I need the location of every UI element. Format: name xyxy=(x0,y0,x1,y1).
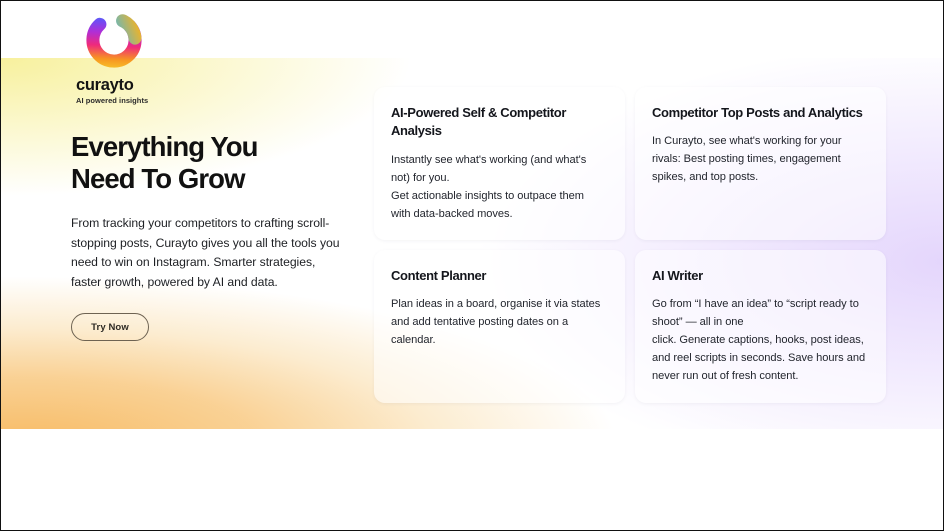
screenshot-frame: curayto AI powered insights Everything Y… xyxy=(0,0,944,531)
card-title: AI Writer xyxy=(652,267,866,285)
card-body: Plan ideas in a board, organise it via s… xyxy=(391,296,605,350)
page-title: Everything You Need To Grow xyxy=(71,131,361,195)
card-body: In Curayto, see what's working for your … xyxy=(652,133,866,187)
card-title: Competitor Top Posts and Analytics xyxy=(652,104,866,122)
curayto-c-logo-icon xyxy=(83,9,145,71)
hero-subtitle: From tracking your competitors to crafti… xyxy=(71,214,343,294)
card-body: Instantly see what's working (and what's… xyxy=(391,152,605,224)
card-title: Content Planner xyxy=(391,267,605,285)
brand-tagline: AI powered insights xyxy=(76,96,361,105)
card-body: Go from “I have an idea” to “script read… xyxy=(652,296,866,386)
card-title: AI-Powered Self & Competitor Analysis xyxy=(391,104,605,141)
feature-card-grid: AI-Powered Self & Competitor Analysis In… xyxy=(374,87,886,409)
brand-name: curayto xyxy=(76,77,361,94)
feature-card-competitor-top-posts[interactable]: Competitor Top Posts and Analytics In Cu… xyxy=(635,87,886,240)
feature-card-ai-writer[interactable]: AI Writer Go from “I have an idea” to “s… xyxy=(635,250,886,403)
feature-card-content-planner[interactable]: Content Planner Plan ideas in a board, o… xyxy=(374,250,625,403)
brand-lockup[interactable]: curayto AI powered insights xyxy=(71,9,361,105)
feature-card-ai-powered-analysis[interactable]: AI-Powered Self & Competitor Analysis In… xyxy=(374,87,625,240)
hero-left-column: curayto AI powered insights Everything Y… xyxy=(71,9,361,341)
try-now-button[interactable]: Try Now xyxy=(71,313,149,341)
